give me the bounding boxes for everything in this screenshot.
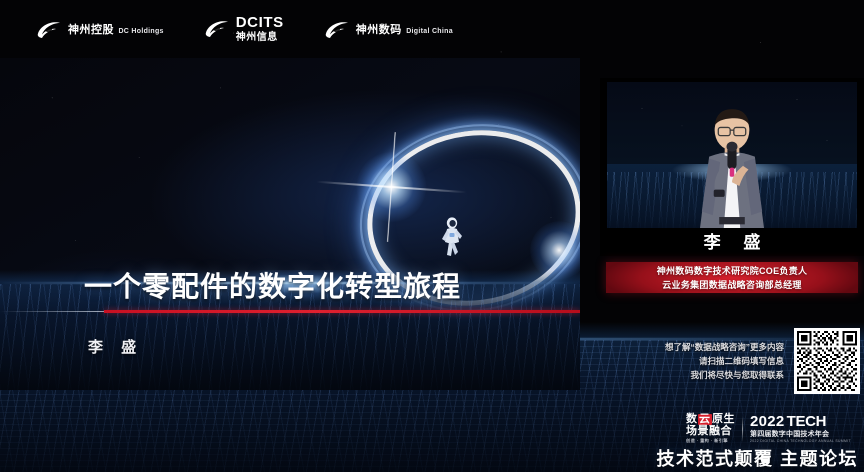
qr-contact-block: 想了解“数据战略咨询”更多内容 请扫描二维码填写信息 我们将尽快与您取得联系 [604, 326, 860, 396]
event-slogan-line-1: 数云原生 [686, 414, 735, 425]
event-year-row: 2022 TECH [750, 414, 851, 430]
speaker-video-panel[interactable]: 李 盛 [600, 78, 864, 256]
event-slogan-char-1: 数 [686, 414, 698, 425]
event-title-en: 2022 DIGITAL CHINA TECHNOLOGY ANNUAL SUM… [750, 440, 851, 444]
qr-text-line-2: 请扫描二维码填写信息 [665, 354, 784, 368]
speaker-name-overlay: 李 盛 [600, 228, 864, 253]
event-slogan-char-2: 云 [698, 414, 712, 425]
logo-dcits-brand: DCITS [236, 14, 284, 31]
swirl-logo-icon [36, 20, 62, 39]
event-year: 2022 [750, 414, 785, 430]
slide-title: 一个零配件的数字化转型旅程 [84, 265, 461, 305]
speaker-title-line-1: 神州数码数字技术研究院COE负责人 [657, 264, 808, 277]
speaker-person-figure [672, 100, 792, 228]
forum-title: 技术范式颠覆 主题论坛 [600, 445, 858, 471]
logo-dc-holdings-cn: 神州控股 [68, 24, 114, 36]
speaker-video-frame [607, 82, 857, 228]
qr-text-line-3: 我们将尽快与您取得联系 [665, 368, 784, 382]
divider-red-line [104, 310, 580, 313]
logo-dc-holdings-text: 神州控股 DC Holdings [68, 21, 164, 38]
screen-root: 神州控股 DC Holdings DCITS 神州信息 [0, 0, 864, 472]
slide-speaker-name: 李 盛 [88, 336, 143, 357]
event-logo-title: 2022 TECH 第四届数字中国技术年会 2022 DIGITAL CHINA… [750, 414, 851, 443]
event-logo-divider [742, 416, 743, 442]
logo-dcits: DCITS 神州信息 [204, 15, 284, 43]
speaker-title-line-2: 云业务集团数据战略咨询部总经理 [662, 278, 802, 291]
brand-logo-bar: 神州控股 DC Holdings DCITS 神州信息 [0, 0, 636, 58]
event-slogan-sub: 创造 · 重构 · 新引擎 [686, 439, 735, 443]
logo-digital-china-en: Digital China [406, 28, 453, 35]
slide-divider [0, 310, 580, 313]
event-tech-wordmark: TECH [787, 414, 827, 430]
event-logo: 数云原生 场景融合 创造 · 重构 · 新引擎 2022 TECH 第四届数字中… [686, 414, 851, 443]
qr-instruction-text: 想了解“数据战略咨询”更多内容 请扫描二维码填写信息 我们将尽快与您取得联系 [665, 340, 784, 382]
event-slogan-line-2: 场景融合 [686, 426, 735, 437]
event-footer-bar: 数云原生 场景融合 创造 · 重构 · 新引擎 2022 TECH 第四届数字中… [600, 405, 864, 472]
logo-dcits-cn: 神州信息 [236, 33, 284, 44]
astronaut-figure-icon [440, 216, 466, 264]
logo-dcits-text: DCITS 神州信息 [236, 15, 284, 43]
event-logo-slogan: 数云原生 场景融合 创造 · 重构 · 新引擎 [686, 414, 735, 443]
qr-code[interactable] [794, 328, 860, 394]
event-tech-text: TECH [787, 414, 827, 430]
presentation-slide: 一个零配件的数字化转型旅程 李 盛 [0, 58, 580, 390]
event-slogan-char-3: 原生 [712, 414, 735, 425]
swirl-logo-icon [204, 19, 230, 38]
logo-dc-holdings-en: DC Holdings [118, 28, 163, 35]
logo-digital-china: 神州数码 Digital China [324, 20, 453, 39]
logo-digital-china-text: 神州数码 Digital China [356, 21, 453, 38]
qr-text-line-1: 想了解“数据战略咨询”更多内容 [665, 340, 784, 354]
swirl-logo-icon [324, 20, 350, 39]
logo-digital-china-cn: 神州数码 [356, 24, 402, 36]
logo-dc-holdings: 神州控股 DC Holdings [36, 20, 164, 39]
speaker-title-banner: 神州数码数字技术研究院COE负责人 云业务集团数据战略咨询部总经理 [606, 262, 858, 293]
event-title-cn: 第四届数字中国技术年会 [750, 431, 851, 438]
